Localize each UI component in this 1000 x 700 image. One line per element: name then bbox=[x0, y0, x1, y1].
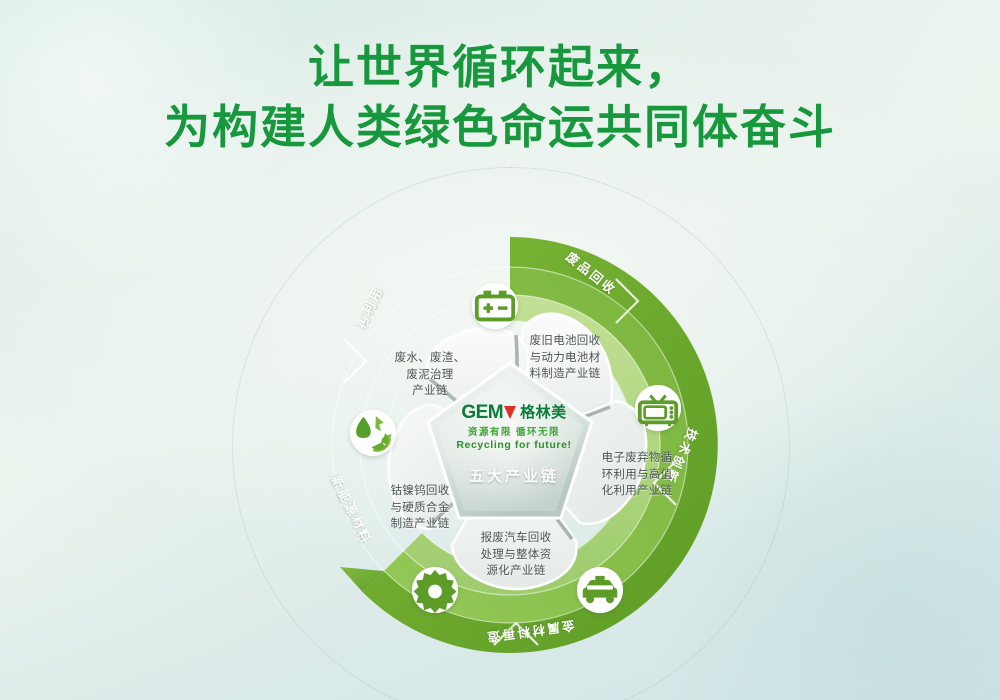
badge-electronics[interactable] bbox=[635, 385, 681, 431]
center-title: 五大产业链 bbox=[440, 465, 588, 486]
logo-brand-chinese: 格林美 bbox=[520, 405, 567, 420]
logo-lockup: GEM 格林美 bbox=[440, 403, 588, 422]
center-logo-block: GEM 格林美 资源有限 循环无限 Recycling for future! … bbox=[440, 403, 588, 499]
tv-icon bbox=[635, 178, 681, 638]
circular-economy-diagram: 废旧电池回收 与动力电池材 料制造产业链 电子废弃物循 环利用与高值 化利用产业… bbox=[280, 215, 740, 675]
badge-alloy[interactable] bbox=[412, 567, 458, 613]
badge-vehicle[interactable] bbox=[577, 567, 623, 613]
water-recycle-icon bbox=[350, 203, 396, 663]
logo-wordmark: GEM bbox=[461, 403, 503, 422]
badge-battery[interactable] bbox=[472, 283, 518, 329]
wedge-label-vehicle: 报废汽车回收 处理与整体资 源化产业链 bbox=[455, 530, 577, 580]
logo-triangle-mark bbox=[504, 406, 516, 419]
page-title: 让世界循环起来， 为构建人类绿色命运共同体奋斗 bbox=[0, 42, 1000, 153]
logo-slogan-english: Recycling for future! bbox=[440, 439, 588, 451]
headline-line-2: 为构建人类绿色命运共同体奋斗 bbox=[0, 102, 1000, 154]
badge-water-treatment[interactable] bbox=[350, 410, 396, 456]
logo-slogan-chinese: 资源有限 循环无限 bbox=[440, 424, 588, 438]
poster-canvas: 让世界循环起来， 为构建人类绿色命运共同体奋斗 bbox=[0, 0, 1000, 700]
headline-line-1: 让世界循环起来， bbox=[0, 42, 1000, 94]
